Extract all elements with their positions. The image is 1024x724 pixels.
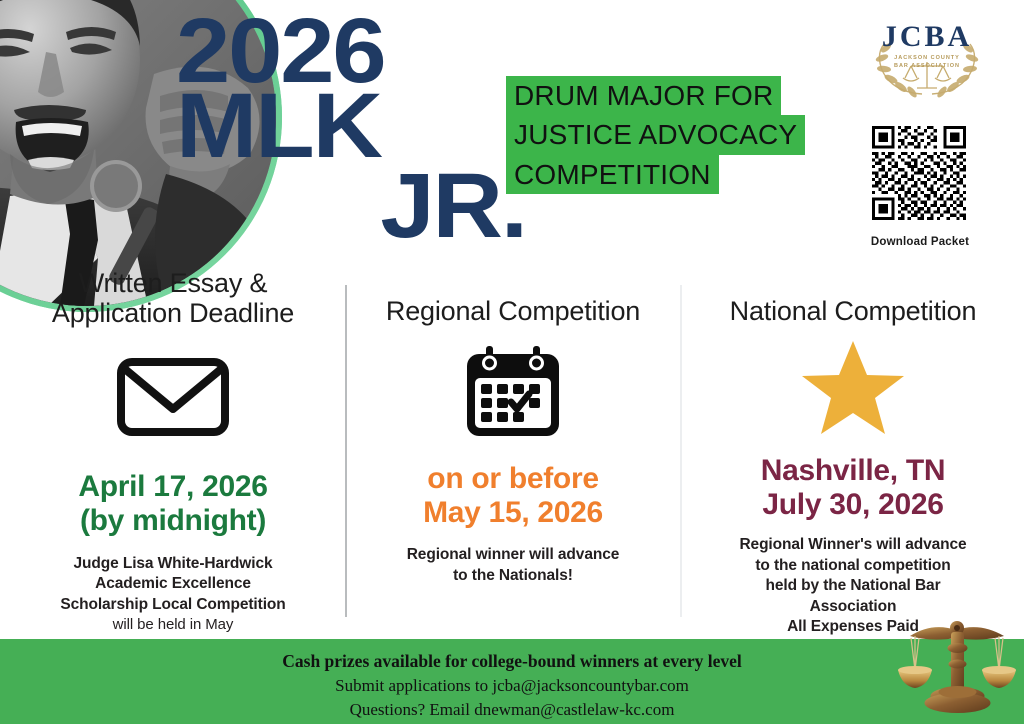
column-3-note-line-1: Regional Winner's will advance — [700, 535, 1006, 555]
column-1-date-line-1: April 17, 2026 — [22, 470, 324, 504]
column-2-note-line-1: Regional winner will advance — [358, 545, 668, 565]
jcba-logo: JCBA JACKSON COUNTY BAR ASSOCIATION — [862, 22, 992, 100]
column-2-date-line-2: May 15, 2026 — [358, 496, 668, 530]
column-3-note-line-2: to the national competition — [700, 556, 1006, 576]
column-1-title-line-2: Application Deadline — [22, 298, 324, 328]
column-divider-2 — [680, 285, 682, 617]
star-icon — [700, 336, 1006, 440]
download-packet-qr-code[interactable] — [872, 126, 966, 220]
qr-download-label: Download Packet — [852, 236, 988, 248]
column-divider-1 — [345, 285, 347, 617]
scales-of-justice-icon — [898, 604, 1018, 716]
headline-line-1: 2026 MLK — [176, 0, 384, 177]
column-1-note-light: will be held in May — [22, 615, 324, 635]
column-3-date: Nashville, TN July 30, 2026 — [700, 454, 1006, 521]
footer-line-3: Questions? Email dnewman@castlelaw-kc.co… — [0, 698, 1024, 722]
headline-line-2: JR. — [176, 169, 526, 244]
column-3-note-line-3: held by the National Bar — [700, 576, 1006, 596]
column-2-note: Regional winner will advance to the Nati… — [358, 545, 668, 586]
column-regional-competition: Regional Competition — [358, 268, 668, 586]
column-2-date-line-1: on or before — [358, 462, 668, 496]
calendar-check-icon — [358, 340, 668, 444]
column-1-title: Written Essay & Application Deadline — [22, 268, 324, 328]
column-2-date: on or before May 15, 2026 — [358, 462, 668, 529]
column-1-note: Judge Lisa White-Hardwick Academic Excel… — [22, 554, 324, 635]
column-1-date-line-2: (by midnight) — [22, 504, 324, 538]
banner-line-2: JUSTICE ADVOCACY — [506, 115, 805, 154]
column-1-title-line-1: Written Essay & — [22, 268, 324, 298]
envelope-icon — [22, 342, 324, 452]
footer-line-2: Submit applications to jcba@jacksoncount… — [0, 674, 1024, 698]
column-3-title-line-1: National Competition — [700, 296, 1006, 326]
banner-line-3: COMPETITION — [506, 155, 719, 194]
column-3-date-line-1: Nashville, TN — [700, 454, 1006, 488]
column-1-note-line-2: Academic Excellence — [22, 574, 324, 594]
column-essay-deadline: Written Essay & Application Deadline Apr… — [22, 268, 324, 635]
column-1-note-line-1: Judge Lisa White-Hardwick — [22, 554, 324, 574]
column-2-note-line-2: to the Nationals! — [358, 566, 668, 586]
banner-line-1: DRUM MAJOR FOR — [506, 76, 781, 115]
logo-subtitle-line-1: JACKSON COUNTY — [862, 54, 992, 62]
competition-banner: DRUM MAJOR FOR JUSTICE ADVOCACY COMPETIT… — [506, 76, 805, 194]
column-2-title-line-1: Regional Competition — [358, 296, 668, 326]
column-national-competition: National Competition Nashville, TN July … — [700, 268, 1006, 638]
footer-contact-text: Cash prizes available for college-bound … — [0, 649, 1024, 722]
column-3-title: National Competition — [700, 296, 1006, 326]
column-2-title: Regional Competition — [358, 296, 668, 326]
poster-canvas: 2026 MLK JR. DRUM MAJOR FOR JUSTICE ADVO… — [0, 0, 1024, 724]
logo-subtitle-line-2: BAR ASSOCIATION — [862, 62, 992, 70]
footer-line-1: Cash prizes available for college-bound … — [0, 649, 1024, 674]
logo-mark: JCBA — [862, 22, 992, 52]
logo-subtitle: JACKSON COUNTY BAR ASSOCIATION — [862, 54, 992, 71]
column-3-date-line-2: July 30, 2026 — [700, 488, 1006, 522]
column-1-date: April 17, 2026 (by midnight) — [22, 470, 324, 537]
column-1-note-line-3: Scholarship Local Competition — [22, 595, 324, 615]
